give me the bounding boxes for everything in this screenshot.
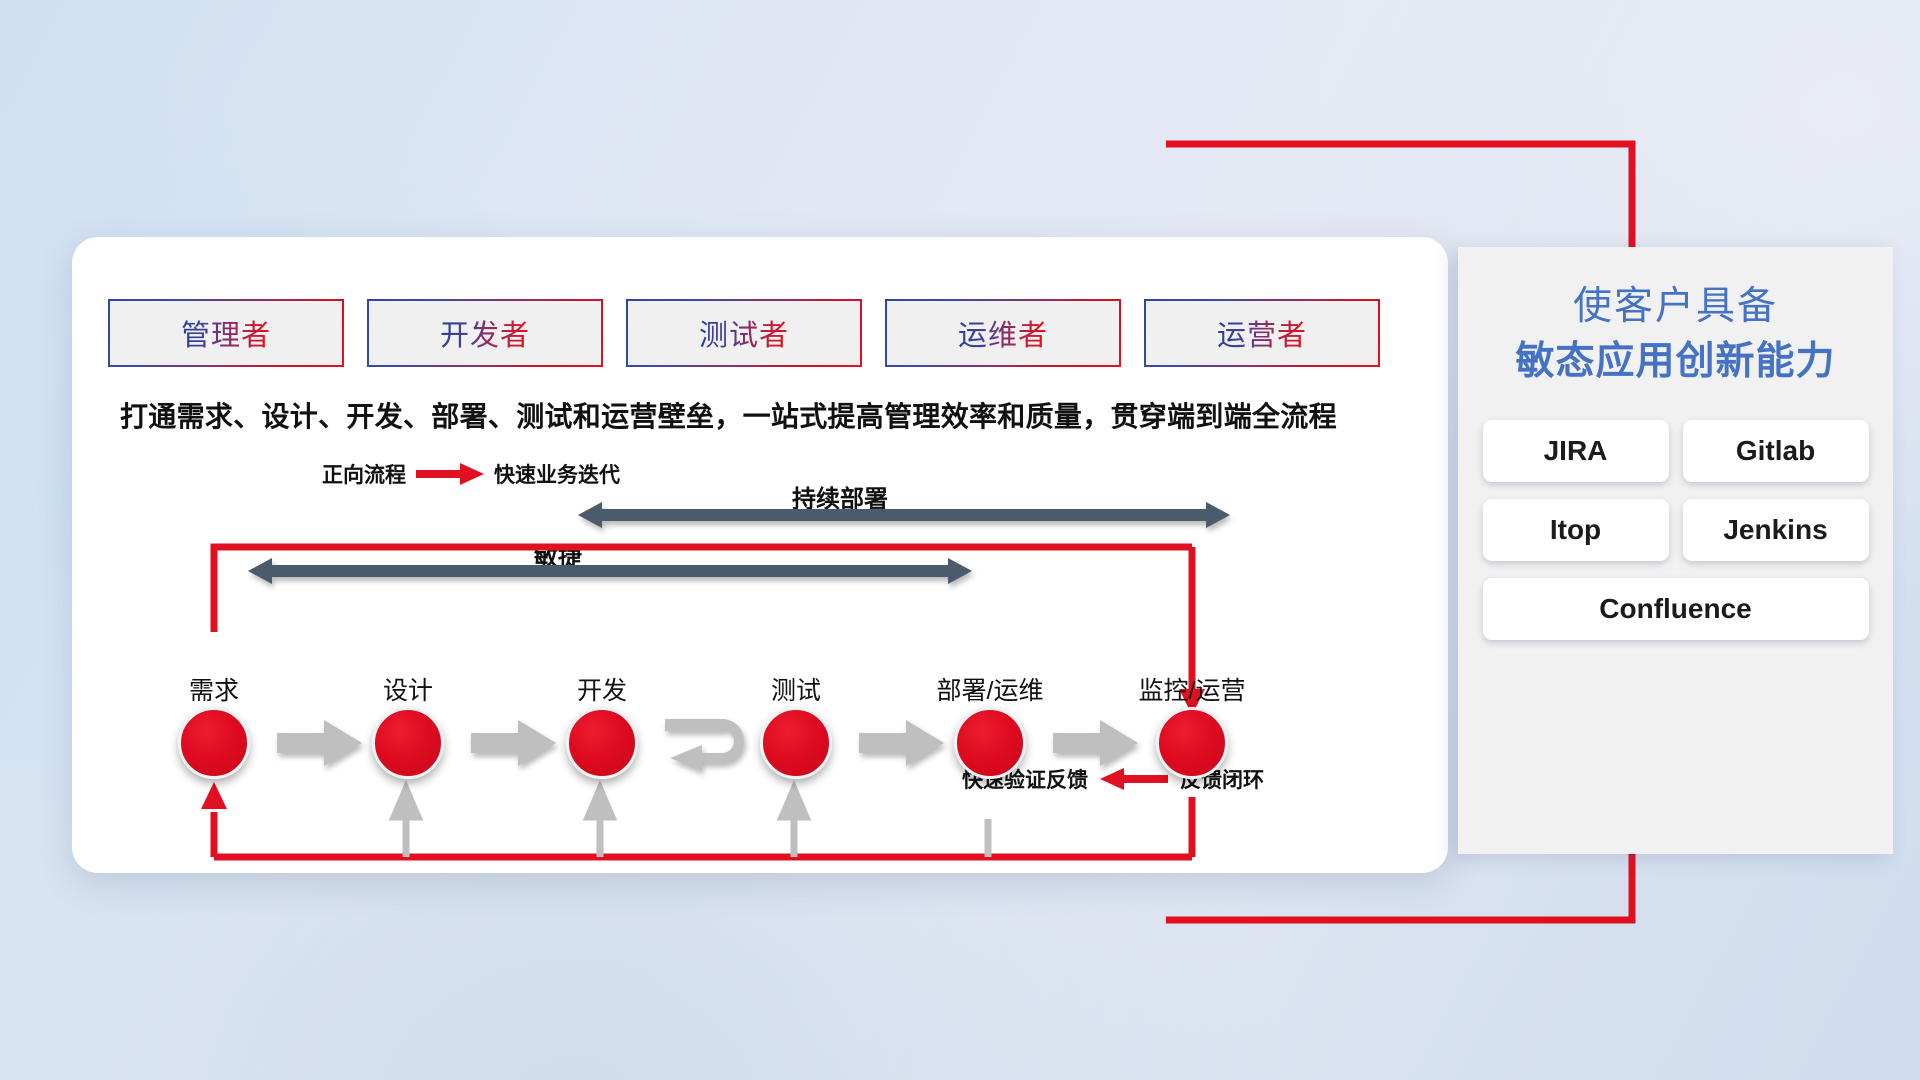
node-dot [1156, 707, 1228, 779]
node-dot [178, 707, 250, 779]
panel-title: 使客户具备 敏态应用创新能力 [1458, 279, 1893, 390]
agile-arrow [248, 558, 972, 584]
node-label: 测试 [771, 671, 821, 707]
node-dot [372, 707, 444, 779]
role-label: 运营者 [1217, 312, 1307, 354]
node-label: 部署/运维 [937, 671, 1044, 707]
tool-chip-jenkins[interactable]: Jenkins [1683, 499, 1869, 561]
main-content-card: 管理者 开发者 测试者 运维者 运营者 打通需求、设计、开发、部署、测试和运营壁… [72, 237, 1448, 873]
tool-chip-jira[interactable]: JIRA [1483, 420, 1669, 482]
node-dot [954, 707, 1026, 779]
role-label: 管理者 [181, 312, 271, 354]
node-label: 开发 [577, 671, 627, 707]
panel-title-line2: 敏态应用创新能力 [1458, 334, 1893, 389]
node-dot [760, 707, 832, 779]
pipeline-node-develop[interactable]: 开发 [566, 707, 638, 779]
panel-title-line1: 使客户具备 [1458, 279, 1893, 334]
tool-grid: JIRA Gitlab Itop Jenkins Confluence [1474, 420, 1877, 640]
tool-chip-gitlab[interactable]: Gitlab [1683, 420, 1869, 482]
role-label: 开发者 [440, 312, 530, 354]
pipeline-node-deploy-ops[interactable]: 部署/运维 [954, 707, 1026, 779]
pipeline-nodes: 需求 设计 开发 测试 部署/运维 监控/运营 [72, 592, 1448, 782]
continuous-deploy-arrow [578, 502, 1230, 528]
pipeline-node-design[interactable]: 设计 [372, 707, 444, 779]
node-label: 设计 [383, 671, 433, 707]
node-dot [566, 707, 638, 779]
gray-feed-arrows [394, 789, 988, 857]
capability-panel: 使客户具备 敏态应用创新能力 JIRA Gitlab Itop Jenkins … [1458, 247, 1893, 854]
pipeline-node-requirement[interactable]: 需求 [178, 707, 250, 779]
node-label: 需求 [189, 671, 239, 707]
tool-chip-itop[interactable]: Itop [1483, 499, 1669, 561]
pipeline-node-monitor-operations[interactable]: 监控/运营 [1156, 707, 1228, 779]
node-label: 监控/运营 [1139, 671, 1246, 707]
tool-chip-confluence[interactable]: Confluence [1483, 578, 1869, 640]
role-label: 运维者 [958, 312, 1048, 354]
pipeline-node-test[interactable]: 测试 [760, 707, 832, 779]
role-label: 测试者 [699, 312, 789, 354]
